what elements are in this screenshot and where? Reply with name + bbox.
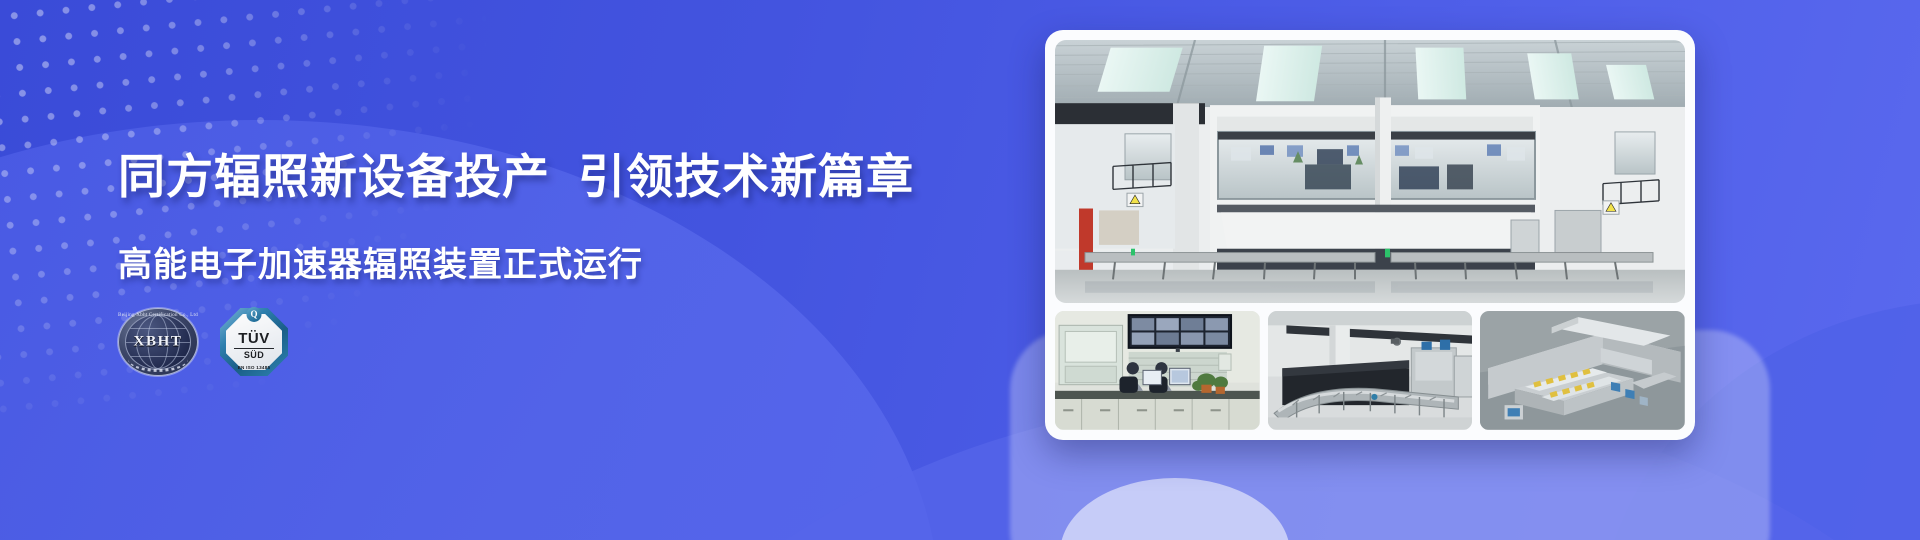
tuv-q-mark: Q: [247, 307, 262, 322]
tuv-sub-mark-text: SÜD: [234, 348, 274, 360]
thumbnail-control-room: [1055, 311, 1260, 430]
hero-photo: [1055, 40, 1685, 303]
certification-badge-group: Beijing Xbht Certification Co., Ltd XBHT…: [118, 308, 288, 376]
tuv-sud-certification-badge: Q TÜV SÜD EN ISO 13485: [220, 308, 288, 376]
xbht-certification-badge: Beijing Xbht Certification Co., Ltd XBHT: [118, 308, 198, 376]
thumbnail-3d-layout: [1480, 311, 1685, 430]
control-room-image: [1055, 311, 1260, 430]
xbht-ring-text: Beijing Xbht Certification Co., Ltd: [118, 312, 198, 318]
hero-photo-image: [1055, 40, 1685, 303]
banner-text-column: 同方辐照新设备投产 引领技术新篇章 高能电子加速器辐照装置正式运行: [118, 148, 938, 287]
facility-3d-render-image: [1480, 311, 1685, 430]
xbht-mark-text: XBHT: [118, 334, 198, 351]
banner-subheadline: 高能电子加速器辐照装置正式运行: [118, 244, 938, 287]
promo-banner: 同方辐照新设备投产 引领技术新篇章 高能电子加速器辐照装置正式运行 Beijin…: [0, 0, 1920, 540]
thumbnail-conveyor: [1268, 311, 1473, 430]
tuv-standard-text: EN ISO 13485: [220, 365, 288, 370]
tuv-mark-text: TÜV: [220, 330, 288, 347]
photo-gallery-panel: [1045, 30, 1695, 440]
thumbnail-row: [1055, 311, 1685, 430]
banner-headline: 同方辐照新设备投产 引领技术新篇章: [118, 148, 938, 205]
conveyor-image: [1268, 311, 1473, 430]
